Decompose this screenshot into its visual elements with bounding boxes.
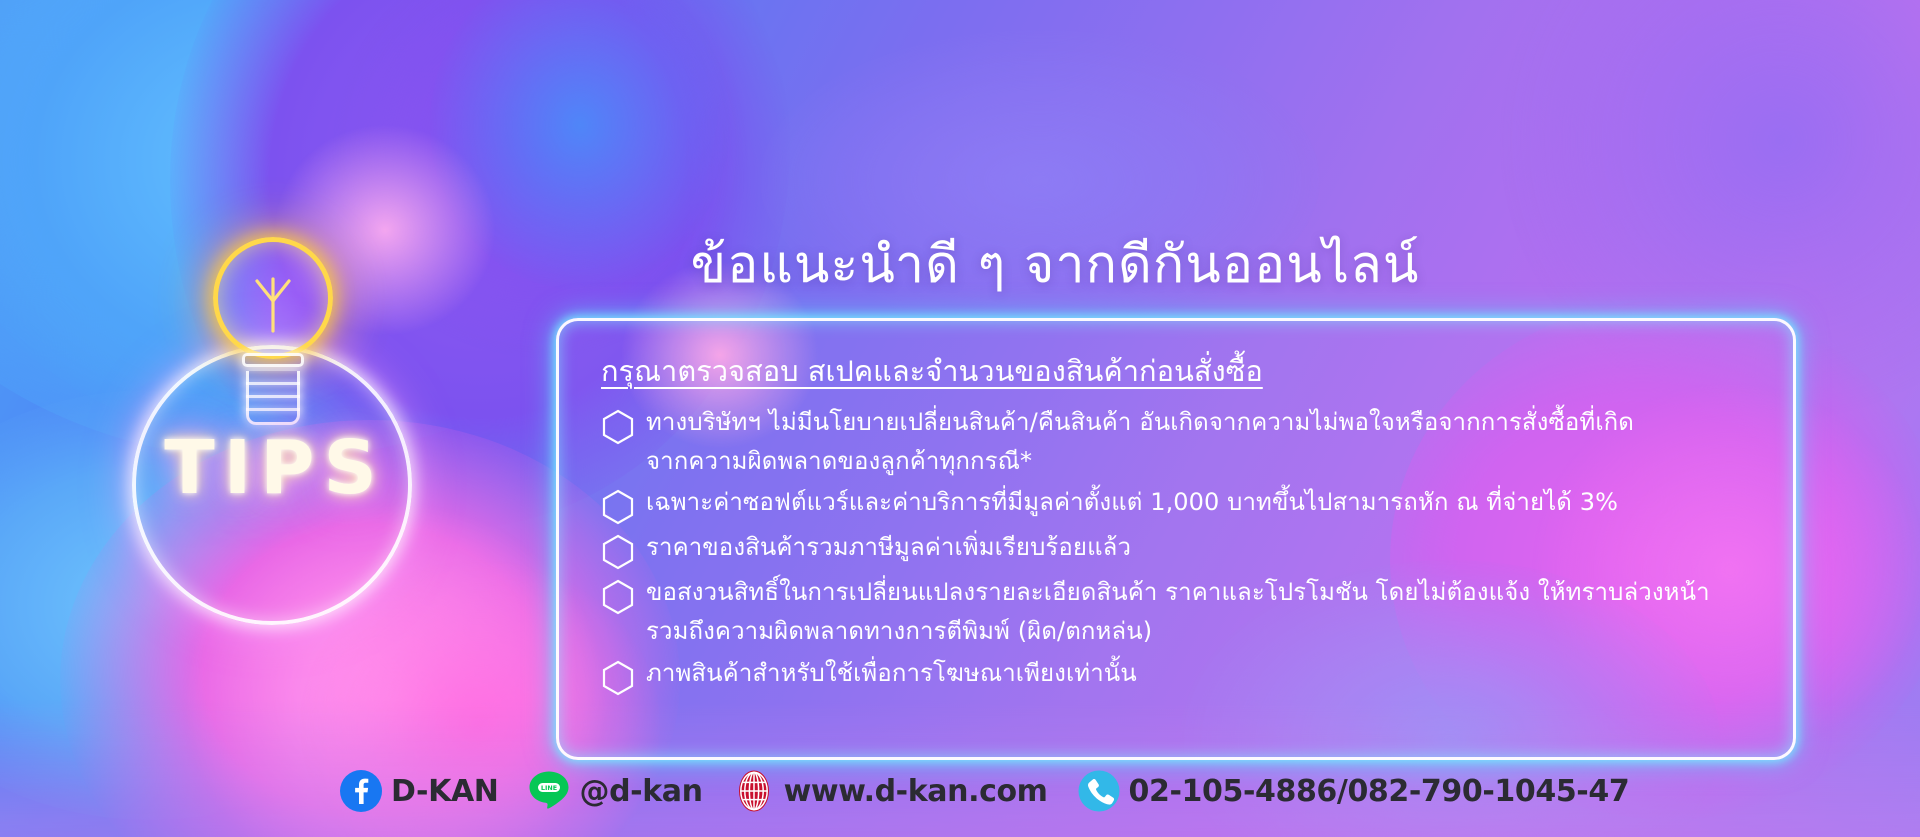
bulb-filament-icon <box>249 275 297 333</box>
contact-phone-label: 02-105-4886/082-790-1045-47 <box>1129 774 1630 809</box>
hexagon-bullet-icon <box>601 534 635 570</box>
contact-line-label: @d-kan <box>579 774 702 809</box>
list-item-line-1: ราคาของสินค้ารวมภาษีมูลค่าเพิ่มเรียบร้อย… <box>646 533 1131 561</box>
contact-bar: D-KAN LINE @d-kan <box>340 770 1629 812</box>
bulb-neck <box>242 353 304 367</box>
hexagon-bullet-icon <box>601 409 635 445</box>
list-item-text: ภาพสินค้าสำหรับใช้เพื่อการโฆษณาเพียงเท่า… <box>646 654 1137 693</box>
hexagon-bullet-icon <box>601 489 635 525</box>
list-item: ราคาของสินค้ารวมภาษีมูลค่าเพิ่มเรียบร้อย… <box>601 528 1767 570</box>
list-item-text: ทางบริษัทฯ ไม่มีนโยบายเปลี่ยนสินค้า/คืนส… <box>646 403 1634 481</box>
list-item-line-1: ภาพสินค้าสำหรับใช้เพื่อการโฆษณาเพียงเท่า… <box>646 659 1137 687</box>
hexagon-bullet-icon <box>601 660 635 696</box>
list-item-text: ขอสงวนสิทธิ์ในการเปลี่ยนแปลงรายละเอียดสิ… <box>646 573 1710 651</box>
contact-facebook-label: D-KAN <box>391 774 498 809</box>
tips-heading: กรุณาตรวจสอบ สเปคและจำนวนของสินค้าก่อนสั… <box>601 353 1767 391</box>
contact-line[interactable]: LINE @d-kan <box>528 770 702 812</box>
svg-text:LINE: LINE <box>541 784 557 792</box>
phone-icon[interactable] <box>1078 770 1120 812</box>
list-item-line-1: ทางบริษัทฯ ไม่มีนโยบายเปลี่ยนสินค้า/คืนส… <box>646 408 1634 436</box>
page-title: ข้อแนะนำดี ๆ จากดีกันออนไลน์ <box>520 238 1590 293</box>
list-item: เฉพาะค่าซอฟต์แวร์และค่าบริการที่มีมูลค่า… <box>601 483 1767 525</box>
contact-facebook[interactable]: D-KAN <box>340 770 498 812</box>
tips-wordmark: TIPS <box>120 425 430 511</box>
globe-icon[interactable] <box>733 770 775 812</box>
list-item-line-1: ขอสงวนสิทธิ์ในการเปลี่ยนแปลงรายละเอียดสิ… <box>646 578 1710 606</box>
tips-bulb-graphic: TIPS <box>110 225 440 645</box>
facebook-icon[interactable] <box>340 770 382 812</box>
list-item: ทางบริษัทฯ ไม่มีนโยบายเปลี่ยนสินค้า/คืนส… <box>601 403 1767 481</box>
list-item-line-2: รวมถึงความผิดพลาดทางการตีพิมพ์ (ผิด/ตกหล… <box>646 612 1710 651</box>
list-item: ภาพสินค้าสำหรับใช้เพื่อการโฆษณาเพียงเท่า… <box>601 654 1767 696</box>
line-icon[interactable]: LINE <box>528 770 570 812</box>
list-item-line-2: จากความผิดพลาดของลูกค้าทุกกรณี* <box>646 442 1634 481</box>
promo-banner: TIPS ข้อแนะนำดี ๆ จากดีกันออนไลน์ กรุณาต… <box>0 0 1920 837</box>
contact-phone[interactable]: 02-105-4886/082-790-1045-47 <box>1078 770 1630 812</box>
contact-website[interactable]: www.d-kan.com <box>733 770 1048 812</box>
list-item-text: ราคาของสินค้ารวมภาษีมูลค่าเพิ่มเรียบร้อย… <box>646 528 1131 567</box>
list-item-text: เฉพาะค่าซอฟต์แวร์และค่าบริการที่มีมูลค่า… <box>646 483 1618 522</box>
list-item: ขอสงวนสิทธิ์ในการเปลี่ยนแปลงรายละเอียดสิ… <box>601 573 1767 651</box>
hexagon-bullet-icon <box>601 579 635 615</box>
contact-website-label: www.d-kan.com <box>784 774 1048 809</box>
bulb-base <box>246 371 300 425</box>
list-item-line-1: เฉพาะค่าซอฟต์แวร์และค่าบริการที่มีมูลค่า… <box>646 488 1618 516</box>
tips-panel: กรุณาตรวจสอบ สเปคและจำนวนของสินค้าก่อนสั… <box>556 318 1796 760</box>
